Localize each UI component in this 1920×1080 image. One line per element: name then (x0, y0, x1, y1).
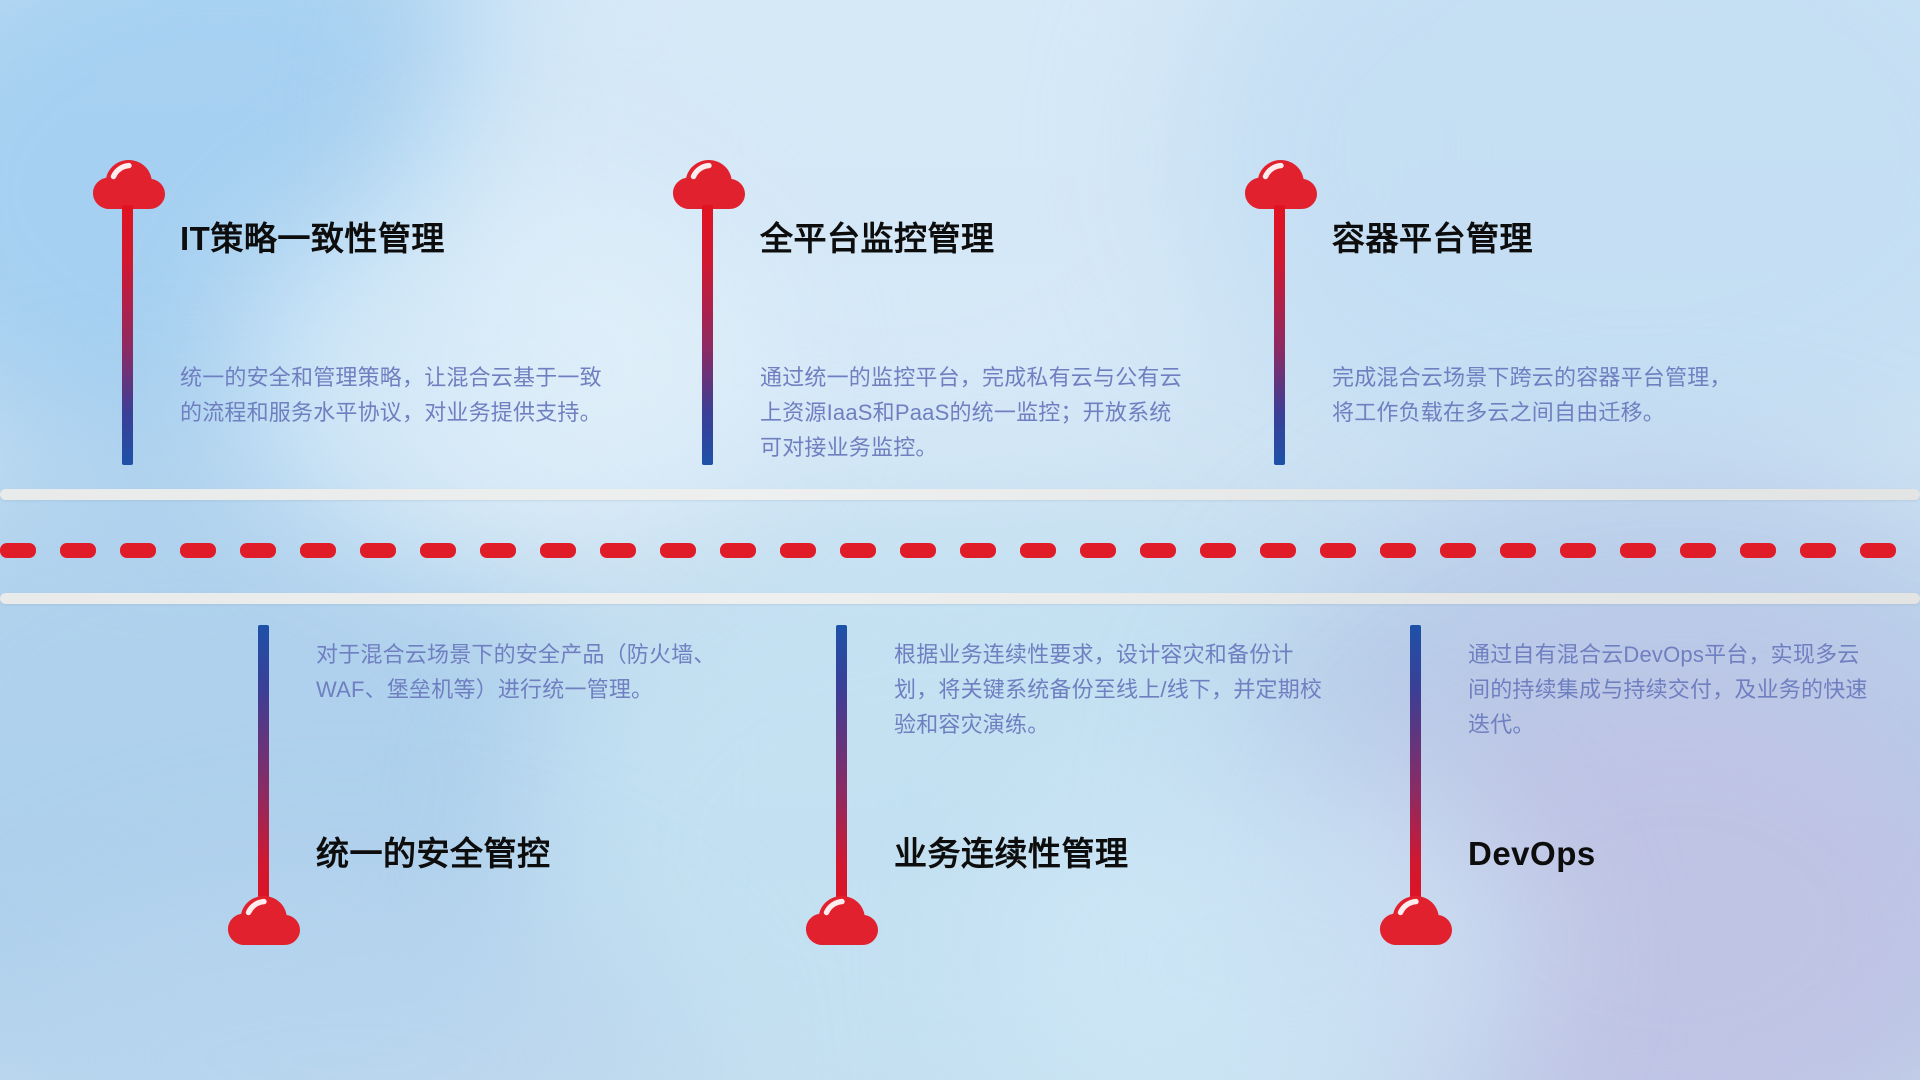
road-dash (1860, 543, 1896, 558)
road-dash (120, 543, 156, 558)
road-dash (960, 543, 996, 558)
road-dash (1380, 543, 1416, 558)
road-dash (360, 543, 396, 558)
road-dash (1740, 543, 1776, 558)
timeline-bar (1274, 205, 1285, 465)
road-dash (600, 543, 636, 558)
road-dash (1680, 543, 1716, 558)
road-dash (660, 543, 696, 558)
item-title: 业务连续性管理 (894, 837, 1129, 870)
item-description: 通过统一的监控平台，完成私有云与公有云上资源IaaS和PaaS的统一监控；开放系… (760, 360, 1190, 465)
cloud-icon (228, 896, 300, 946)
cloud-icon (93, 160, 165, 210)
item-description: 根据业务连续性要求，设计容灾和备份计划，将关键系统备份至线上/线下，并定期校验和… (894, 637, 1324, 742)
road-dash (0, 543, 36, 558)
road-dash (420, 543, 456, 558)
road-dash (480, 543, 516, 558)
item-title: DevOps (1468, 837, 1596, 870)
road-dash (1320, 543, 1356, 558)
road-dash (1440, 543, 1476, 558)
timeline-bar (836, 625, 847, 915)
road-dash (300, 543, 336, 558)
road-dash (240, 543, 276, 558)
road-dash (540, 543, 576, 558)
road-dash (1020, 543, 1056, 558)
road-dash (180, 543, 216, 558)
timeline-bar (122, 205, 133, 465)
road-dash (1560, 543, 1596, 558)
item-title: 全平台监控管理 (760, 222, 995, 255)
item-description: 对于混合云场景下的安全产品（防火墙、WAF、堡垒机等）进行统一管理。 (316, 637, 746, 707)
cloud-icon (1380, 896, 1452, 946)
item-description: 通过自有混合云DevOps平台，实现多云间的持续集成与持续交付，及业务的快速迭代… (1468, 637, 1868, 742)
timeline-bar (702, 205, 713, 465)
road-dash (840, 543, 876, 558)
road-dash (1140, 543, 1176, 558)
timeline-bar (1410, 625, 1421, 915)
cloud-icon (673, 160, 745, 210)
item-title: IT策略一致性管理 (180, 222, 445, 255)
road-dash (900, 543, 936, 558)
road-dash (1260, 543, 1296, 558)
road-dash (780, 543, 816, 558)
road-dash (720, 543, 756, 558)
item-description: 统一的安全和管理策略，让混合云基于一致的流程和服务水平协议，对业务提供支持。 (180, 360, 610, 430)
cloud-icon (1245, 160, 1317, 210)
road-dashed-centerline (0, 543, 1920, 558)
road-dash (1200, 543, 1236, 558)
timeline-bar (258, 625, 269, 915)
road-dash (1620, 543, 1656, 558)
road-dash (1080, 543, 1116, 558)
item-title: 统一的安全管控 (316, 837, 551, 870)
item-title: 容器平台管理 (1332, 222, 1533, 255)
road-solid-line-lower (0, 593, 1920, 604)
item-description: 完成混合云场景下跨云的容器平台管理，将工作负载在多云之间自由迁移。 (1332, 360, 1732, 430)
infographic-canvas: IT策略一致性管理 统一的安全和管理策略，让混合云基于一致的流程和服务水平协议，… (0, 0, 1920, 1080)
cloud-icon (806, 896, 878, 946)
road-solid-line-upper (0, 489, 1920, 500)
road-dash (1500, 543, 1536, 558)
road-dash (1800, 543, 1836, 558)
road-dash (60, 543, 96, 558)
